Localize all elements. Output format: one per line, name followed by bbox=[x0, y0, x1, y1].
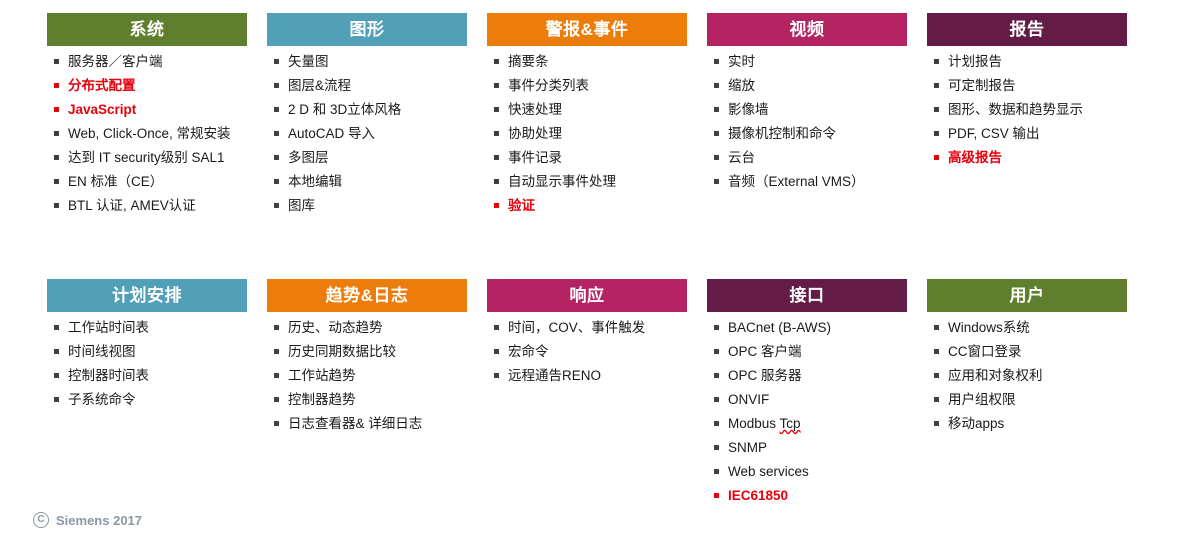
feature-list-item: 快速处理 bbox=[487, 101, 687, 118]
feature-card-reports: 报告 计划报告可定制报告图形、数据和趋势显示PDF, CSV 输出高级报告 bbox=[927, 13, 1127, 173]
feature-list-item-label: 时间线视图 bbox=[68, 344, 136, 359]
feature-list-item-label: 控制器趋势 bbox=[288, 392, 356, 407]
feature-card-trends-logs: 趋势&日志 历史、动态趋势历史同期数据比较工作站趋势控制器趋势日志查看器& 详细… bbox=[267, 279, 467, 439]
bullet-icon bbox=[274, 179, 279, 184]
feature-list-item-label: 计划报告 bbox=[948, 54, 1002, 69]
card-feature-list: 计划报告可定制报告图形、数据和趋势显示PDF, CSV 输出高级报告 bbox=[927, 46, 1127, 166]
feature-list-item-label: 摄像机控制和命令 bbox=[728, 126, 836, 141]
feature-list-item-label: 达到 IT security级别 SAL1 bbox=[68, 150, 225, 165]
feature-list-item: 控制器时间表 bbox=[47, 367, 247, 384]
feature-list-item: 自动显示事件处理 bbox=[487, 173, 687, 190]
bullet-icon bbox=[714, 325, 719, 330]
card-header-title: 系统 bbox=[47, 13, 247, 46]
feature-list-item: CC窗口登录 bbox=[927, 343, 1127, 360]
feature-list-item: 用户组权限 bbox=[927, 391, 1127, 408]
feature-list-item-label: 缩放 bbox=[728, 78, 755, 93]
feature-list-item: 云台 bbox=[707, 149, 907, 166]
bullet-icon bbox=[934, 373, 939, 378]
feature-list-item-label: 历史、动态趋势 bbox=[288, 320, 383, 335]
card-header-title: 用户 bbox=[927, 279, 1127, 312]
bullet-icon bbox=[54, 179, 59, 184]
copyright-text: Siemens 2017 bbox=[56, 513, 142, 528]
card-feature-list: 矢量图图层&流程2 D 和 3D立体风格AutoCAD 导入多图层本地编辑图库 bbox=[267, 46, 467, 214]
feature-list-item: 缩放 bbox=[707, 77, 907, 94]
bullet-icon bbox=[274, 83, 279, 88]
feature-list-item-label: 工作站趋势 bbox=[288, 368, 356, 383]
feature-list-item: Windows系统 bbox=[927, 319, 1127, 336]
feature-list-item: 控制器趋势 bbox=[267, 391, 467, 408]
bullet-icon bbox=[494, 131, 499, 136]
feature-list-item: SNMP bbox=[707, 439, 907, 456]
feature-list-item-label: 音频（External VMS） bbox=[728, 174, 865, 189]
card-header-title: 趋势&日志 bbox=[267, 279, 467, 312]
feature-list-item: 事件分类列表 bbox=[487, 77, 687, 94]
bullet-icon bbox=[274, 421, 279, 426]
feature-list-item-label: 宏命令 bbox=[508, 344, 549, 359]
feature-list-item: 远程通告RENO bbox=[487, 367, 687, 384]
feature-list-item: 应用和对象权利 bbox=[927, 367, 1127, 384]
card-header-title: 报告 bbox=[927, 13, 1127, 46]
feature-list-item-label: 控制器时间表 bbox=[68, 368, 149, 383]
feature-list-item: 可定制报告 bbox=[927, 77, 1127, 94]
bullet-icon bbox=[934, 349, 939, 354]
bullet-icon bbox=[714, 107, 719, 112]
feature-list-item: ONVIF bbox=[707, 391, 907, 408]
bullet-icon bbox=[274, 155, 279, 160]
bullet-icon bbox=[714, 179, 719, 184]
feature-list-item: 时间，COV、事件触发 bbox=[487, 319, 687, 336]
feature-list-item: 摘要条 bbox=[487, 53, 687, 70]
feature-list-item-label: 事件分类列表 bbox=[508, 78, 589, 93]
bullet-icon bbox=[54, 83, 59, 88]
feature-list-item-label: 本地编辑 bbox=[288, 174, 342, 189]
feature-list-item-label: Web, Click-Once, 常规安装 bbox=[68, 126, 231, 141]
bullet-icon bbox=[714, 421, 719, 426]
bullet-icon bbox=[934, 83, 939, 88]
feature-list-item: 历史、动态趋势 bbox=[267, 319, 467, 336]
feature-list-item: BACnet (B-AWS) bbox=[707, 319, 907, 336]
feature-list-item-label: BTL 认证, AMEV认证 bbox=[68, 198, 196, 213]
feature-list-item: PDF, CSV 输出 bbox=[927, 125, 1127, 142]
bullet-icon bbox=[934, 397, 939, 402]
bullet-icon bbox=[714, 131, 719, 136]
feature-list-item-label: IEC61850 bbox=[728, 488, 788, 503]
feature-list-item-label: JavaScript bbox=[68, 102, 136, 117]
feature-list-item: Web, Click-Once, 常规安装 bbox=[47, 125, 247, 142]
feature-list-item: 分布式配置 bbox=[47, 77, 247, 94]
feature-list-item-label: 多图层 bbox=[288, 150, 329, 165]
feature-list-item: OPC 客户端 bbox=[707, 343, 907, 360]
feature-list-item-label: Modbus Tcp bbox=[728, 416, 801, 431]
feature-list-item: EN 标准（CE） bbox=[47, 173, 247, 190]
bullet-icon bbox=[714, 493, 719, 498]
bullet-icon bbox=[494, 107, 499, 112]
feature-list-item-label: OPC 客户端 bbox=[728, 344, 802, 359]
bullet-icon bbox=[494, 83, 499, 88]
bullet-icon bbox=[494, 155, 499, 160]
feature-list-item-label: 快速处理 bbox=[508, 102, 562, 117]
feature-list-item: 事件记录 bbox=[487, 149, 687, 166]
feature-list-item-label: ONVIF bbox=[728, 392, 769, 407]
bullet-icon bbox=[934, 59, 939, 64]
bullet-icon bbox=[54, 373, 59, 378]
feature-list-item: 本地编辑 bbox=[267, 173, 467, 190]
feature-list-item-label: 服务器／客户端 bbox=[68, 54, 163, 69]
copyright-footer: C Siemens 2017 bbox=[33, 512, 142, 528]
bullet-icon bbox=[494, 325, 499, 330]
feature-list-item-label: 摘要条 bbox=[508, 54, 549, 69]
feature-list-item: 子系统命令 bbox=[47, 391, 247, 408]
card-header-title: 视频 bbox=[707, 13, 907, 46]
feature-list-item-label: 高级报告 bbox=[948, 150, 1002, 165]
bullet-icon bbox=[714, 59, 719, 64]
feature-list-item: 工作站时间表 bbox=[47, 319, 247, 336]
feature-matrix-board: 系统 服务器／客户端分布式配置JavaScriptWeb, Click-Once… bbox=[0, 0, 1189, 533]
feature-list-item-label: 子系统命令 bbox=[68, 392, 136, 407]
feature-list-item-label: 实时 bbox=[728, 54, 755, 69]
feature-list-item: Modbus Tcp bbox=[707, 415, 907, 432]
bullet-icon bbox=[714, 469, 719, 474]
feature-list-item-label: 工作站时间表 bbox=[68, 320, 149, 335]
feature-list-item: 宏命令 bbox=[487, 343, 687, 360]
feature-list-item: OPC 服务器 bbox=[707, 367, 907, 384]
feature-list-item: 图层&流程 bbox=[267, 77, 467, 94]
bullet-icon bbox=[494, 373, 499, 378]
feature-list-item-label: 可定制报告 bbox=[948, 78, 1016, 93]
feature-list-item-label: 2 D 和 3D立体风格 bbox=[288, 102, 401, 117]
bullet-icon bbox=[934, 107, 939, 112]
feature-list-item-label: PDF, CSV 输出 bbox=[948, 126, 1040, 141]
feature-list-item: 验证 bbox=[487, 197, 687, 214]
bullet-icon bbox=[274, 373, 279, 378]
bullet-icon bbox=[714, 445, 719, 450]
card-feature-list: BACnet (B-AWS)OPC 客户端OPC 服务器ONVIFModbus … bbox=[707, 312, 907, 504]
card-header-title: 计划安排 bbox=[47, 279, 247, 312]
feature-list-item: 历史同期数据比较 bbox=[267, 343, 467, 360]
feature-list-item: Web services bbox=[707, 463, 907, 480]
bullet-icon bbox=[274, 325, 279, 330]
bullet-icon bbox=[54, 203, 59, 208]
bullet-icon bbox=[714, 349, 719, 354]
feature-list-item-label: 云台 bbox=[728, 150, 755, 165]
bullet-icon bbox=[494, 203, 499, 208]
card-feature-list: 历史、动态趋势历史同期数据比较工作站趋势控制器趋势日志查看器& 详细日志 bbox=[267, 312, 467, 432]
feature-list-item-label: 图形、数据和趋势显示 bbox=[948, 102, 1083, 117]
bullet-icon bbox=[494, 179, 499, 184]
card-header-title: 响应 bbox=[487, 279, 687, 312]
bullet-icon bbox=[494, 349, 499, 354]
feature-list-item-label: SNMP bbox=[728, 440, 767, 455]
bullet-icon bbox=[274, 131, 279, 136]
feature-list-item: BTL 认证, AMEV认证 bbox=[47, 197, 247, 214]
bullet-icon bbox=[274, 107, 279, 112]
card-header-title: 图形 bbox=[267, 13, 467, 46]
feature-card-scheduling: 计划安排 工作站时间表时间线视图控制器时间表子系统命令 bbox=[47, 279, 247, 415]
feature-list-item-label: 图层&流程 bbox=[288, 78, 351, 93]
feature-list-item-label: Web services bbox=[728, 464, 809, 479]
feature-list-item-label: 应用和对象权利 bbox=[948, 368, 1043, 383]
feature-card-users: 用户 Windows系统CC窗口登录应用和对象权利用户组权限移动apps bbox=[927, 279, 1127, 439]
feature-list-item: AutoCAD 导入 bbox=[267, 125, 467, 142]
bullet-icon bbox=[54, 397, 59, 402]
feature-list-item-label: 用户组权限 bbox=[948, 392, 1016, 407]
feature-list-item-label: AutoCAD 导入 bbox=[288, 126, 375, 141]
bullet-icon bbox=[274, 203, 279, 208]
feature-list-item: 实时 bbox=[707, 53, 907, 70]
feature-list-item-label: CC窗口登录 bbox=[948, 344, 1022, 359]
bullet-icon bbox=[54, 59, 59, 64]
bullet-icon bbox=[54, 155, 59, 160]
bullet-icon bbox=[54, 349, 59, 354]
feature-list-item-label: 事件记录 bbox=[508, 150, 562, 165]
feature-list-item: 音频（External VMS） bbox=[707, 173, 907, 190]
feature-list-item-label: 日志查看器& 详细日志 bbox=[288, 416, 422, 431]
feature-list-item-label: Windows系统 bbox=[948, 320, 1030, 335]
card-feature-list: 服务器／客户端分布式配置JavaScriptWeb, Click-Once, 常… bbox=[47, 46, 247, 214]
feature-list-item: 多图层 bbox=[267, 149, 467, 166]
feature-list-item: 移动apps bbox=[927, 415, 1127, 432]
feature-list-item-label: 远程通告RENO bbox=[508, 368, 601, 383]
feature-list-item: 服务器／客户端 bbox=[47, 53, 247, 70]
feature-list-item-label: 影像墙 bbox=[728, 102, 769, 117]
bullet-icon bbox=[274, 397, 279, 402]
card-header-title: 接口 bbox=[707, 279, 907, 312]
feature-list-item-label: 时间，COV、事件触发 bbox=[508, 320, 645, 335]
feature-list-item: 矢量图 bbox=[267, 53, 467, 70]
bullet-icon bbox=[934, 325, 939, 330]
bullet-icon bbox=[934, 131, 939, 136]
feature-card-system: 系统 服务器／客户端分布式配置JavaScriptWeb, Click-Once… bbox=[47, 13, 247, 221]
feature-list-item: 日志查看器& 详细日志 bbox=[267, 415, 467, 432]
feature-card-video: 视频 实时缩放影像墙摄像机控制和命令云台音频（External VMS） bbox=[707, 13, 907, 197]
feature-list-item-label: EN 标准（CE） bbox=[68, 174, 163, 189]
feature-list-item-label: 历史同期数据比较 bbox=[288, 344, 396, 359]
feature-list-item: 工作站趋势 bbox=[267, 367, 467, 384]
feature-list-item: 图库 bbox=[267, 197, 467, 214]
card-feature-list: 工作站时间表时间线视图控制器时间表子系统命令 bbox=[47, 312, 247, 408]
feature-list-item: 时间线视图 bbox=[47, 343, 247, 360]
feature-list-item-label: 分布式配置 bbox=[68, 78, 136, 93]
bullet-icon bbox=[714, 155, 719, 160]
bullet-icon bbox=[274, 59, 279, 64]
bullet-icon bbox=[54, 131, 59, 136]
bullet-icon bbox=[934, 155, 939, 160]
feature-list-item: IEC61850 bbox=[707, 487, 907, 504]
card-feature-list: 摘要条事件分类列表快速处理协助处理事件记录自动显示事件处理验证 bbox=[487, 46, 687, 214]
feature-list-item: 计划报告 bbox=[927, 53, 1127, 70]
card-feature-list: 实时缩放影像墙摄像机控制和命令云台音频（External VMS） bbox=[707, 46, 907, 190]
bullet-icon bbox=[714, 373, 719, 378]
bullet-icon bbox=[494, 59, 499, 64]
card-header-title: 警报&事件 bbox=[487, 13, 687, 46]
feature-list-item: 2 D 和 3D立体风格 bbox=[267, 101, 467, 118]
feature-card-graphics: 图形 矢量图图层&流程2 D 和 3D立体风格AutoCAD 导入多图层本地编辑… bbox=[267, 13, 467, 221]
feature-list-item: 图形、数据和趋势显示 bbox=[927, 101, 1127, 118]
feature-card-interfaces: 接口 BACnet (B-AWS)OPC 客户端OPC 服务器ONVIFModb… bbox=[707, 279, 907, 511]
feature-list-item: 协助处理 bbox=[487, 125, 687, 142]
feature-list-item: JavaScript bbox=[47, 101, 247, 118]
bullet-icon bbox=[934, 421, 939, 426]
bullet-icon bbox=[714, 83, 719, 88]
copyright-icon: C bbox=[33, 512, 49, 528]
feature-list-item: 影像墙 bbox=[707, 101, 907, 118]
feature-list-item: 达到 IT security级别 SAL1 bbox=[47, 149, 247, 166]
spellcheck-underline: Tcp bbox=[780, 416, 801, 431]
feature-list-item-label: 验证 bbox=[508, 198, 535, 213]
feature-list-item-label: 图库 bbox=[288, 198, 315, 213]
card-feature-list: Windows系统CC窗口登录应用和对象权利用户组权限移动apps bbox=[927, 312, 1127, 432]
card-feature-list: 时间，COV、事件触发宏命令远程通告RENO bbox=[487, 312, 687, 384]
bullet-icon bbox=[274, 349, 279, 354]
bullet-icon bbox=[714, 397, 719, 402]
feature-list-item-label: BACnet (B-AWS) bbox=[728, 320, 831, 335]
feature-list-item: 高级报告 bbox=[927, 149, 1127, 166]
feature-list-item-label: 移动apps bbox=[948, 416, 1004, 431]
feature-list-item-label: 自动显示事件处理 bbox=[508, 174, 616, 189]
bullet-icon bbox=[54, 107, 59, 112]
feature-card-reactions: 响应 时间，COV、事件触发宏命令远程通告RENO bbox=[487, 279, 687, 391]
feature-list-item: 摄像机控制和命令 bbox=[707, 125, 907, 142]
feature-list-item-label: 矢量图 bbox=[288, 54, 329, 69]
bullet-icon bbox=[54, 325, 59, 330]
feature-list-item-label: 协助处理 bbox=[508, 126, 562, 141]
feature-list-item-label: OPC 服务器 bbox=[728, 368, 802, 383]
feature-card-alarms-events: 警报&事件 摘要条事件分类列表快速处理协助处理事件记录自动显示事件处理验证 bbox=[487, 13, 687, 221]
